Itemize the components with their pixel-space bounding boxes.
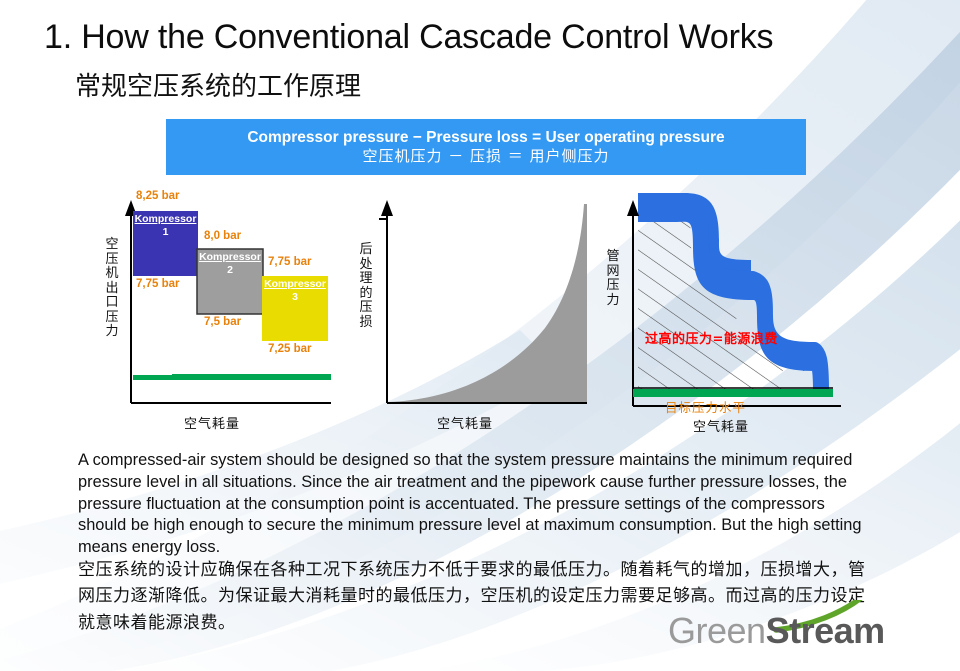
page-title: 1. How the Conventional Cascade Control …	[44, 18, 773, 57]
bar-1-top-label: 8,25 bar	[136, 190, 179, 202]
logo-text-green: Green	[668, 610, 766, 651]
bar-1-number: 1	[133, 226, 198, 238]
chart1-y-axis-label: 空压机出口压力	[104, 238, 120, 340]
page-subtitle-zh: 常规空压系统的工作原理	[75, 66, 361, 103]
formula-banner-en: Compressor pressure − Pressure loss = Us…	[247, 129, 724, 147]
chart3-x-axis-label: 空气耗量	[693, 416, 749, 435]
chart1-target-line-seg2	[172, 374, 331, 380]
bar-1-name: Kompressor	[133, 214, 198, 225]
formula-banner-zh: 空压机压力 － 压损 ＝ 用户侧压力	[362, 147, 609, 166]
chart2-loss-curve-area	[388, 204, 587, 402]
chart3-target-level-label: 目标压力水平	[665, 397, 746, 416]
chart1-x-axis-label: 空气耗量	[184, 413, 240, 432]
chart2-y-axis-label: 后处理的压损	[358, 243, 374, 330]
logo-text: GreenStream	[668, 610, 885, 652]
chart3-y-axis-arrow	[627, 200, 639, 216]
chart-compressor-pressure: 空压机出口压力 空气耗量 8,25 bar 7,75 bar 8,0 bar 7…	[104, 188, 344, 438]
bar-2-number: 2	[197, 264, 263, 276]
greenstream-logo: GreenStream	[668, 600, 928, 660]
chart3-waste-annotation: 过高的压力=能源浪费	[645, 328, 778, 347]
chart-pressure-loss: 后处理的压损 空气耗量	[355, 188, 600, 438]
bar-3-name: Kompressor	[262, 279, 328, 290]
bar-1-bottom-label: 7,75 bar	[136, 278, 179, 290]
chart3-target-line	[633, 389, 833, 397]
bar-2-top-label: 8,0 bar	[204, 230, 241, 242]
logo-text-stream: Stream	[766, 610, 885, 651]
bar-2-bottom-label: 7,5 bar	[204, 316, 241, 328]
chart2-canvas	[355, 188, 600, 438]
chart2-x-axis-label: 空气耗量	[437, 413, 493, 432]
slide-canvas: 1. How the Conventional Cascade Control …	[0, 0, 960, 671]
chart2-y-axis-arrow	[381, 200, 393, 216]
chart-network-pressure: 管网压力 空气耗量 过高的压力=能源浪费 目标压力水平	[605, 188, 860, 438]
body-paragraph-en: A compressed-air system should be design…	[78, 450, 868, 559]
bar-2-name: Kompressor	[197, 252, 263, 263]
chart1-target-line-seg1	[133, 375, 173, 380]
formula-banner: Compressor pressure − Pressure loss = Us…	[166, 119, 806, 175]
chart3-y-axis-label: 管网压力	[605, 250, 621, 308]
bar-3-bottom-label: 7,25 bar	[268, 343, 311, 355]
bar-3-number: 3	[262, 291, 328, 303]
bar-3-top-label: 7,75 bar	[268, 256, 311, 268]
